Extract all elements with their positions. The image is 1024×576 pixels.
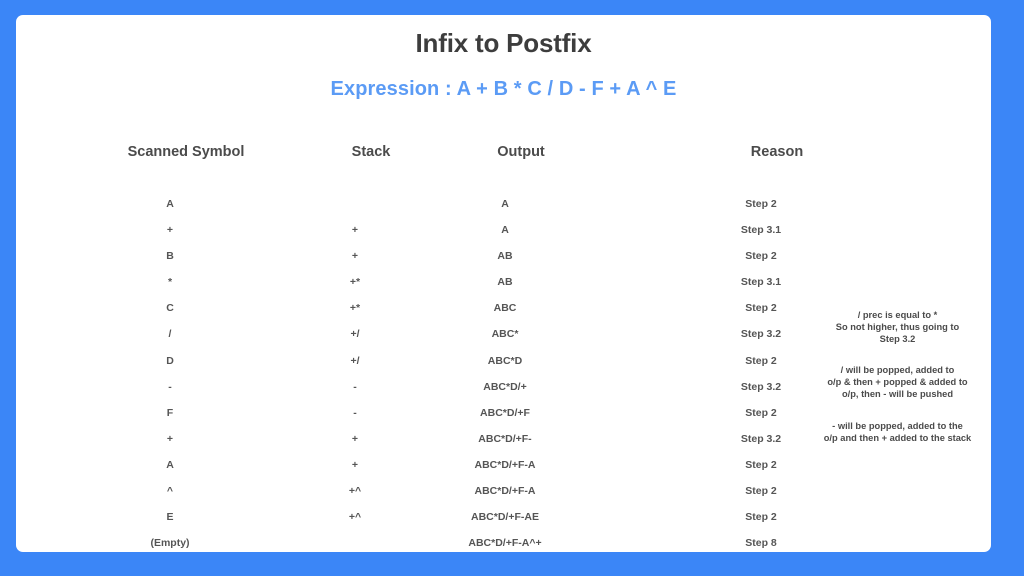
cell-reason: Step 3.2 xyxy=(741,426,781,452)
cell-reason: Step 2 xyxy=(745,504,777,530)
annotation-note-line: o/p and then + added to the stack xyxy=(795,432,991,444)
cell-scanned-symbol: C xyxy=(166,295,174,321)
cell-stack: +/ xyxy=(350,348,359,374)
cell-reason: Step 2 xyxy=(745,191,777,217)
cell-scanned-symbol: B xyxy=(166,243,174,269)
cell-output: ABC*D/+ xyxy=(483,374,526,400)
cell-stack: +^ xyxy=(349,504,361,530)
cell-stack: + xyxy=(352,243,358,269)
slide-card: Infix to Postfix Expression : A + B * C … xyxy=(16,15,991,552)
table-row: (Empty)ABC*D/+F-A^+Step 8 xyxy=(16,530,991,552)
cell-reason: Step 8 xyxy=(745,530,777,552)
cell-output: ABC*D/+F-AE xyxy=(471,504,539,530)
annotation-note: / will be popped, added too/p & then + p… xyxy=(795,364,991,401)
cell-reason: Step 3.1 xyxy=(741,217,781,243)
cell-scanned-symbol: - xyxy=(168,374,172,400)
table-row: A+ABC*D/+F-AStep 2 xyxy=(16,452,991,478)
cell-output: A xyxy=(501,217,509,243)
cell-scanned-symbol: F xyxy=(167,400,173,426)
table-row: ++AStep 3.1 xyxy=(16,217,991,243)
annotation-note-line: Step 3.2 xyxy=(795,333,991,345)
cell-scanned-symbol: + xyxy=(167,426,173,452)
cell-scanned-symbol: * xyxy=(168,269,172,295)
annotation-note-line: So not higher, thus going to xyxy=(795,321,991,333)
cell-output: ABC*D/+F- xyxy=(478,426,531,452)
table-row: AAStep 2 xyxy=(16,191,991,217)
cell-reason: Step 2 xyxy=(745,478,777,504)
cell-stack: +^ xyxy=(349,478,361,504)
annotation-note-line: o/p & then + popped & added to xyxy=(795,376,991,388)
cell-reason: Step 2 xyxy=(745,295,777,321)
cell-stack: - xyxy=(353,374,357,400)
cell-output: A xyxy=(501,191,509,217)
cell-output: ABC*D xyxy=(488,348,522,374)
cell-output: ABC*D/+F xyxy=(480,400,530,426)
cell-scanned-symbol: D xyxy=(166,348,174,374)
annotation-note-line: o/p, then - will be pushed xyxy=(795,388,991,400)
cell-output: ABC xyxy=(494,295,517,321)
annotation-note-line: / will be popped, added to xyxy=(795,364,991,376)
annotation-note: / prec is equal to *So not higher, thus … xyxy=(795,309,991,346)
cell-stack: - xyxy=(353,400,357,426)
cell-output: ABC*D/+F-A^+ xyxy=(468,530,541,552)
column-header: Stack xyxy=(352,144,391,160)
cell-scanned-symbol: ^ xyxy=(167,478,173,504)
column-header: Output xyxy=(497,144,545,160)
column-header: Reason xyxy=(751,144,803,160)
cell-scanned-symbol: (Empty) xyxy=(150,530,189,552)
cell-output: ABC* xyxy=(492,321,519,347)
cell-output: ABC*D/+F-A xyxy=(475,452,536,478)
page-title: Infix to Postfix xyxy=(16,28,991,59)
annotation-note: - will be popped, added to theo/p and th… xyxy=(795,420,991,444)
cell-output: AB xyxy=(497,269,512,295)
cell-reason: Step 3.1 xyxy=(741,269,781,295)
cell-scanned-symbol: E xyxy=(166,504,173,530)
column-header: Scanned Symbol xyxy=(128,144,245,160)
cell-stack: + xyxy=(352,452,358,478)
cell-stack: +* xyxy=(350,269,360,295)
cell-output: AB xyxy=(497,243,512,269)
cell-reason: Step 2 xyxy=(745,452,777,478)
cell-reason: Step 3.2 xyxy=(741,374,781,400)
cell-stack: +* xyxy=(350,295,360,321)
annotation-note-line: - will be popped, added to the xyxy=(795,420,991,432)
table-row: ^+^ABC*D/+F-AStep 2 xyxy=(16,478,991,504)
table-row: E+^ABC*D/+F-AEStep 2 xyxy=(16,504,991,530)
cell-scanned-symbol: / xyxy=(169,321,172,347)
cell-stack: + xyxy=(352,217,358,243)
annotation-note-line: / prec is equal to * xyxy=(795,309,991,321)
cell-reason: Step 2 xyxy=(745,348,777,374)
cell-reason: Step 2 xyxy=(745,400,777,426)
table-row: B+ABStep 2 xyxy=(16,243,991,269)
cell-output: ABC*D/+F-A xyxy=(475,478,536,504)
cell-scanned-symbol: A xyxy=(166,452,174,478)
cell-scanned-symbol: + xyxy=(167,217,173,243)
expression-label: Expression : A + B * C / D - F + A ^ E xyxy=(16,78,991,101)
cell-scanned-symbol: A xyxy=(166,191,174,217)
cell-stack: +/ xyxy=(350,321,359,347)
table-row: *+*ABStep 3.1 xyxy=(16,269,991,295)
cell-reason: Step 2 xyxy=(745,243,777,269)
cell-reason: Step 3.2 xyxy=(741,321,781,347)
cell-stack: + xyxy=(352,426,358,452)
